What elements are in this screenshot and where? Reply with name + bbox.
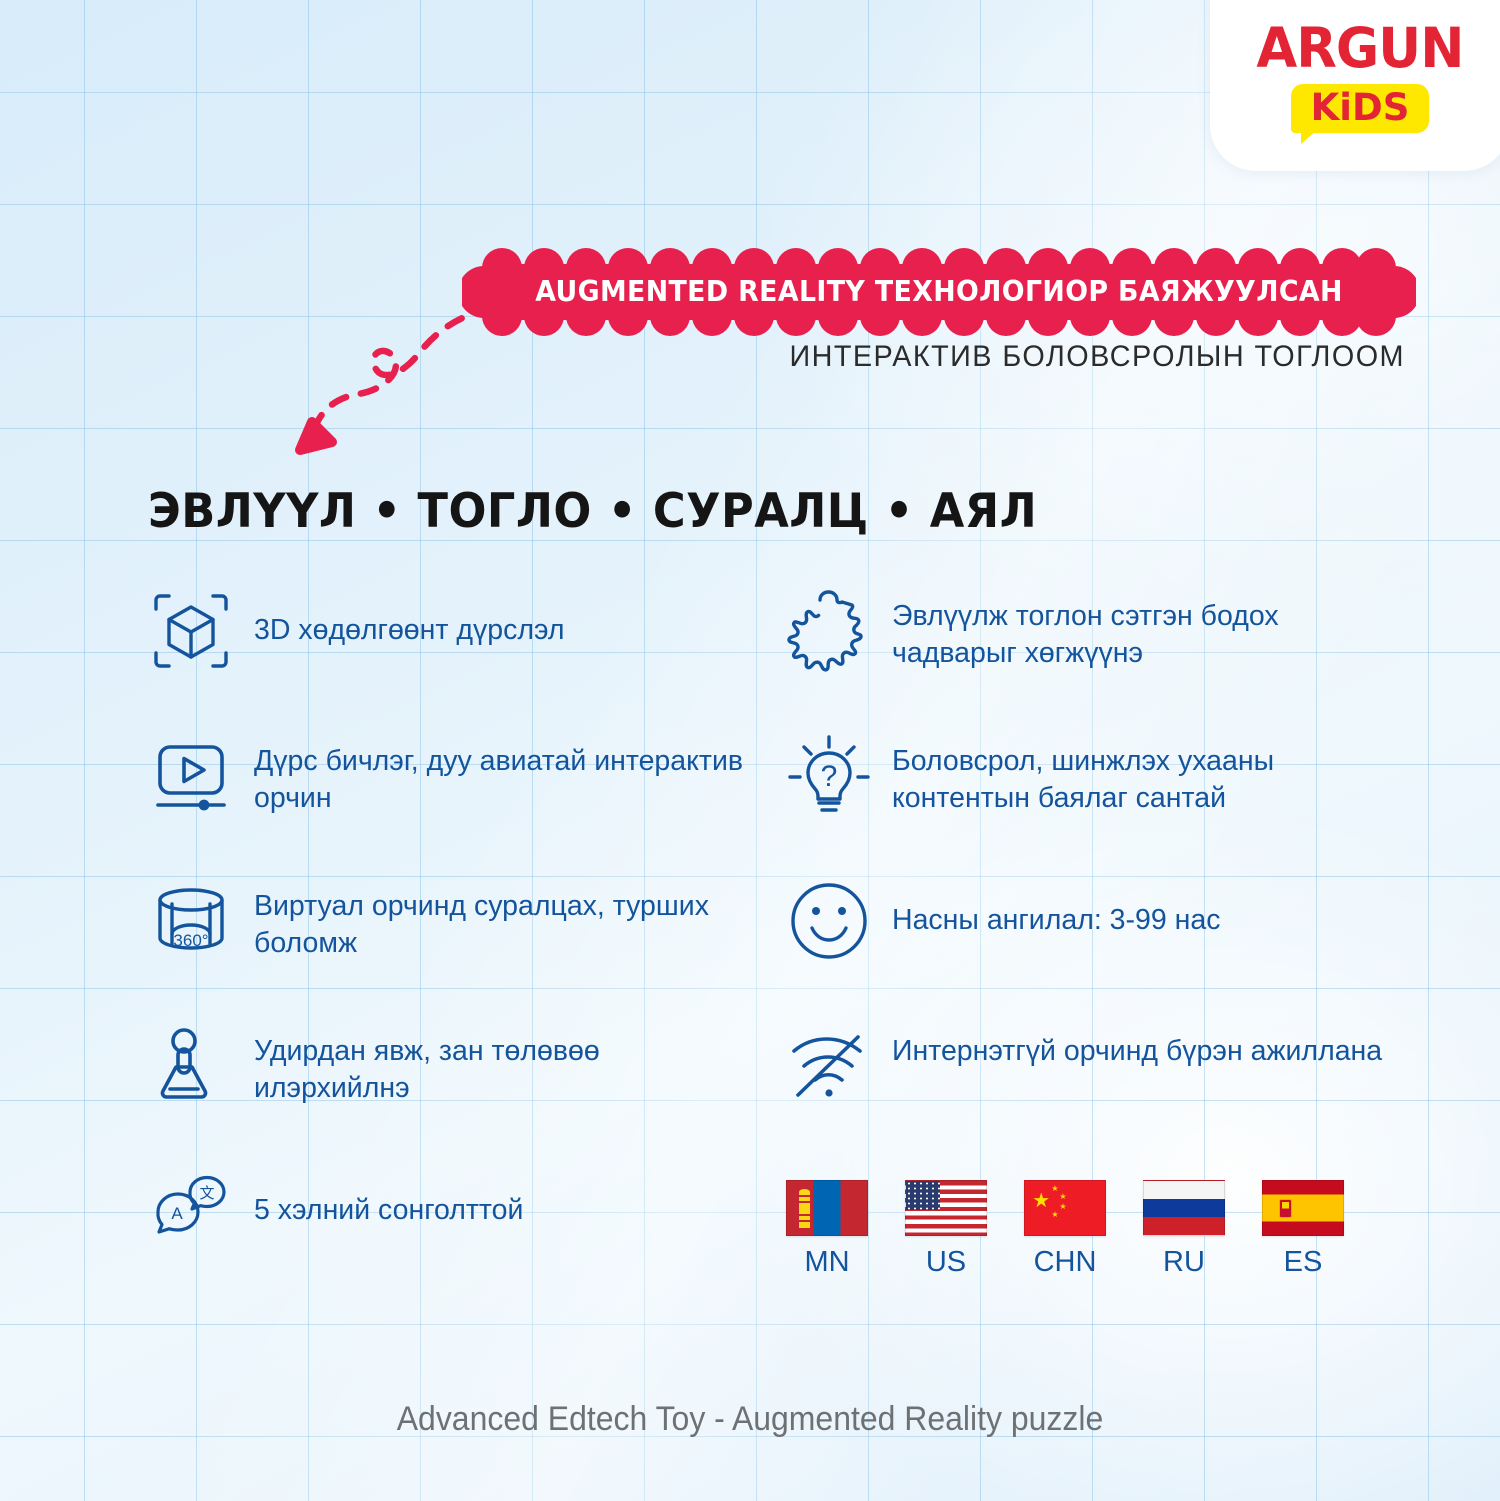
flag-label: RU <box>1163 1246 1205 1279</box>
spain-flag <box>1262 1180 1344 1236</box>
feature-label: Боловсрол, шинжлэх ухааны контентын баял… <box>878 729 1398 817</box>
china-flag: ★ ★ ★ ★ ★ <box>1024 1180 1106 1236</box>
svg-text:文: 文 <box>199 1184 214 1202</box>
feature-item-joystick: Удирдан явж, зан төлөвөө илэрхийлнэ <box>148 1019 788 1164</box>
soyombo-symbol <box>798 1189 810 1229</box>
flag-label: ES <box>1284 1246 1323 1279</box>
feature-item-languages: A 文 5 хэлний сонголттой <box>148 1164 788 1309</box>
flag-label: CHN <box>1034 1246 1097 1279</box>
feature-label: 3D хөдөлгөөнт дүрслэл <box>240 584 565 649</box>
usa-flag <box>905 1180 987 1236</box>
feature-label: 5 хэлний сонголттой <box>240 1164 523 1229</box>
brand-logo-card: ARGUN KiDS <box>1210 0 1500 171</box>
china-small-star: ★ <box>1051 1211 1058 1219</box>
smiley-face-icon <box>786 874 878 966</box>
flag-item-mn: MN <box>786 1180 868 1279</box>
feature-label: Виртуал орчинд суралцах, турших боломж <box>240 874 760 962</box>
svg-text:?: ? <box>821 760 838 793</box>
flag-label: US <box>926 1246 966 1279</box>
usa-canton <box>906 1181 940 1210</box>
feature-label: Интернэтгүй орчинд бүрэн ажиллана <box>878 1019 1382 1070</box>
feature-item-video: Дүрс бичлэг, дуу авиатай интерактив орчи… <box>148 729 788 874</box>
flag-label: MN <box>804 1246 849 1279</box>
svg-text:A: A <box>171 1204 183 1223</box>
banner-title-text: AUGMENTED REALITY ТЕХНОЛОГИОР БАЯЖУУЛСАН <box>491 248 1388 336</box>
flag-item-ru: RU <box>1143 1180 1225 1279</box>
banner-headline: AUGMENTED REALITY ТЕХНОЛОГИОР БАЯЖУУЛСАН <box>462 248 1416 336</box>
feature-column-left: 3D хөдөлгөөнт дүрслэл Дүрс бичлэг, дуу а… <box>148 584 788 1309</box>
logo-kids-text: KiDS <box>1311 89 1410 126</box>
wifi-off-icon <box>786 1019 878 1111</box>
mongolia-flag <box>786 1180 868 1236</box>
flag-item-us: US <box>905 1180 987 1279</box>
feature-label: Эвлүүлж тоглон сэтгэн бодох чадварыг хөг… <box>878 584 1398 672</box>
translate-icon: A 文 <box>148 1164 240 1256</box>
cube-3d-icon <box>148 584 240 676</box>
page-headline: ЭВЛҮҮЛ • ТОГЛО • СУРАЛЦ • АЯЛ <box>148 484 1037 539</box>
video-player-icon <box>148 729 240 821</box>
china-small-star: ★ <box>1051 1185 1058 1193</box>
feature-label: Дүрс бичлэг, дуу авиатай интерактив орчи… <box>240 729 760 817</box>
lightbulb-question-icon: ? <box>786 729 878 821</box>
feature-item-puzzle: Эвлүүлж тоглон сэтгэн бодох чадварыг хөг… <box>786 584 1426 729</box>
feature-label: Насны ангилал: 3-99 нас <box>878 874 1220 939</box>
svg-text:360°: 360° <box>173 931 208 950</box>
feature-column-right: Эвлүүлж тоглон сэтгэн бодох чадварыг хөг… <box>786 584 1426 1164</box>
puzzle-piece-icon <box>786 584 878 676</box>
feature-label: Удирдан явж, зан төлөвөө илэрхийлнэ <box>240 1019 760 1107</box>
china-big-star: ★ <box>1032 1191 1050 1211</box>
china-small-star: ★ <box>1059 1203 1066 1211</box>
flag-item-es: ES <box>1262 1180 1344 1279</box>
feature-item-offline: Интернэтгүй орчинд бүрэн ажиллана <box>786 1019 1426 1164</box>
china-small-star: ★ <box>1059 1193 1066 1201</box>
feature-item-content: ? Боловсрол, шинжлэх ухааны контентын ба… <box>786 729 1426 874</box>
language-flags-row: MN US ★ ★ ★ ★ ★ CHN RU ES <box>786 1180 1344 1279</box>
feature-item-3d: 3D хөдөлгөөнт дүрслэл <box>148 584 788 729</box>
russia-flag <box>1143 1180 1225 1236</box>
spain-coat-of-arms <box>1279 1199 1292 1218</box>
logo-kids-badge: KiDS <box>1291 84 1430 133</box>
vr-360-icon: 360° <box>148 874 240 966</box>
feature-item-360vr: 360° Виртуал орчинд суралцах, турших бол… <box>148 874 788 1019</box>
logo-wordmark-text: ARGUN <box>1256 21 1463 76</box>
joystick-icon <box>148 1019 240 1111</box>
banner-subtitle-text: ИНТЕРАКТИВ БОЛОВСРОЛЫН ТОГЛООМ <box>56 340 1405 374</box>
feature-item-age: Насны ангилал: 3-99 нас <box>786 874 1426 1019</box>
footer-tagline: Advanced Edtech Toy - Augmented Reality … <box>45 1400 1455 1439</box>
flag-item-chn: ★ ★ ★ ★ ★ CHN <box>1024 1180 1106 1279</box>
